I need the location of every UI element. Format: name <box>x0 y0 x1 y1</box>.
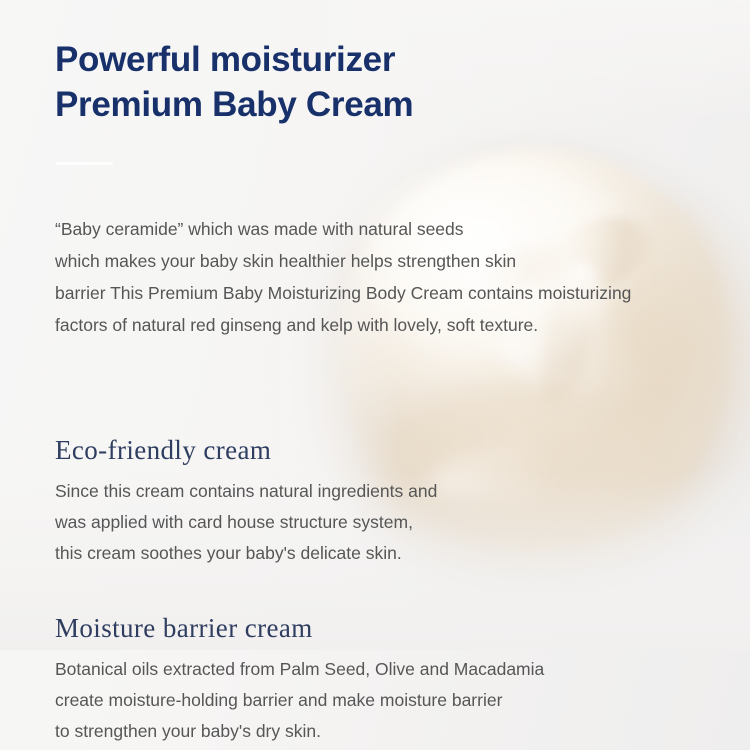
section-moisture-barrier-cream: Moisture barrier cream Botanical oils ex… <box>55 613 544 747</box>
page-title: Powerful moisturizer Premium Baby Cream <box>55 38 413 128</box>
title-divider <box>56 162 113 165</box>
intro-paragraph: “Baby ceramide” which was made with natu… <box>55 213 631 341</box>
cream-swirl-base-fold <box>427 428 662 512</box>
product-detail-page: Powerful moisturizer Premium Baby Cream … <box>0 0 750 750</box>
section-title-moisture-barrier-cream: Moisture barrier cream <box>55 613 544 645</box>
section-body-moisture-barrier-cream: Botanical oils extracted from Palm Seed,… <box>55 654 544 747</box>
section-eco-friendly-cream: Eco-friendly cream Since this cream cont… <box>55 435 437 569</box>
section-title-eco-friendly-cream: Eco-friendly cream <box>55 435 437 467</box>
section-body-eco-friendly-cream: Since this cream contains natural ingred… <box>55 476 437 569</box>
